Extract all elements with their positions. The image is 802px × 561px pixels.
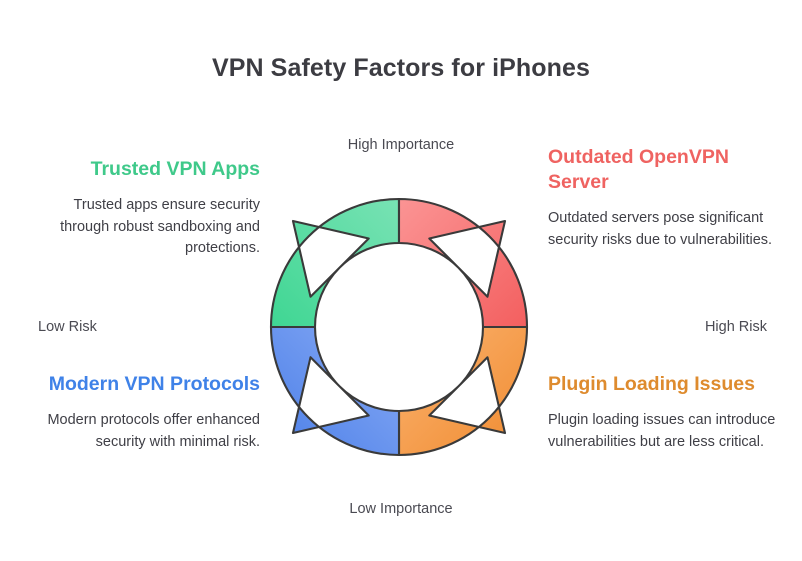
cycle-diagram — [251, 179, 547, 475]
infographic-canvas: VPN Safety Factors for iPhones High Impo… — [0, 0, 802, 561]
quadrant-trusted-vpn-apps: Trusted VPN Apps Trusted apps ensure sec… — [28, 157, 260, 260]
axis-label-high-risk: High Risk — [705, 319, 767, 335]
quadrant-heading: Outdated OpenVPN Server — [548, 145, 780, 195]
axis-label-low-importance: Low Importance — [0, 501, 802, 517]
quadrant-heading: Modern VPN Protocols — [28, 372, 260, 397]
quadrant-body: Outdated servers pose significant securi… — [548, 208, 780, 252]
quadrant-body: Modern protocols offer enhanced security… — [28, 410, 260, 454]
quadrant-body: Plugin loading issues can introduce vuln… — [548, 410, 780, 454]
quadrant-modern-vpn-protocols: Modern VPN Protocols Modern protocols of… — [28, 372, 260, 453]
quadrant-heading: Trusted VPN Apps — [28, 157, 260, 182]
quadrant-outdated-openvpn-server: Outdated OpenVPN Server Outdated servers… — [548, 145, 780, 251]
quadrant-body: Trusted apps ensure security through rob… — [28, 195, 260, 260]
page-title: VPN Safety Factors for iPhones — [0, 54, 802, 83]
quadrant-plugin-loading-issues: Plugin Loading Issues Plugin loading iss… — [548, 372, 780, 453]
axis-label-low-risk: Low Risk — [38, 319, 97, 335]
quadrant-heading: Plugin Loading Issues — [548, 372, 780, 397]
